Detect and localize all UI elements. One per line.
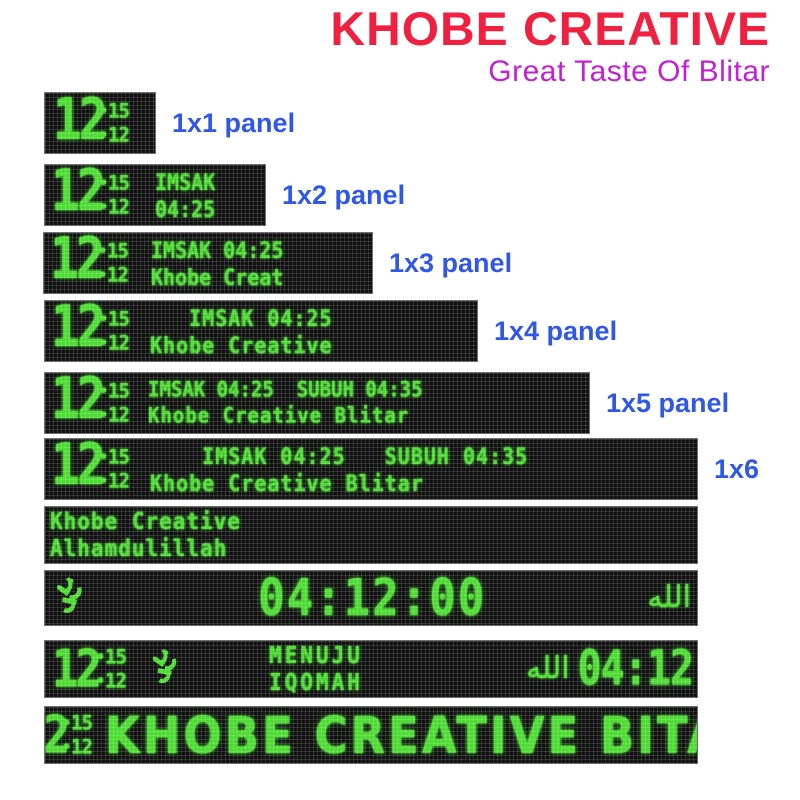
date-small-top: 15 <box>108 447 129 467</box>
brand-tagline: Great Taste Of Blitar <box>250 55 770 88</box>
clock-time: 04:12:00 <box>258 570 486 626</box>
panel-line2: Khobe Creative Blitar <box>150 471 694 493</box>
date-small-bottom: 12 <box>71 737 92 757</box>
date-small-bottom: 12 <box>108 197 129 217</box>
text-panel-line1: Khobe Creative <box>48 510 694 534</box>
date-big-digit: 12 <box>52 646 99 694</box>
led-panel-text[interactable]: Khobe Creative Alhamdulillah <box>44 506 698 564</box>
date-small-top: 15 <box>108 309 129 329</box>
date-small-top: 15 <box>71 713 92 733</box>
panel-line1: IMSAK 04:25 <box>150 306 474 328</box>
iqomah-time: 04:12 <box>578 641 693 696</box>
date-big-digit: 12 <box>50 233 102 285</box>
panel-row-1x6: 12 • 15 • 12 IMSAK 04:25 SUBUH 04:35 Kho… <box>44 438 759 500</box>
panel-label-1x6: 1x6 <box>714 454 759 485</box>
text-panel-line2: Alhamdulillah <box>48 537 694 561</box>
brand-title: KHOBE CREATIVE <box>240 4 770 53</box>
led-panel-1x4[interactable]: 12 • 15 • 12 IMSAK 04:25 Khobe Creative <box>44 300 478 362</box>
led-panel-iqomah[interactable]: 12 • 15 • 12 <box>44 640 698 698</box>
running-text: KHOBE CREATIVE BITA <box>105 706 698 764</box>
panel-line1: IMSAK 04:25 <box>151 238 369 260</box>
page-header: KHOBE CREATIVE Great Taste Of Blitar <box>250 4 770 88</box>
panel-label-1x3: 1x3 panel <box>389 248 512 279</box>
date-big-digit: 12 <box>51 165 103 217</box>
date-small-bottom: 12 <box>107 265 128 285</box>
date-small-bottom: 12 <box>108 405 129 425</box>
panel-row-iqomah: 12 • 15 • 12 <box>44 640 698 698</box>
panel-line1: IMSAK <box>155 170 262 192</box>
date-small-top: 15 <box>108 381 129 401</box>
panel-row-text: Khobe Creative Alhamdulillah <box>44 506 698 564</box>
led-panel-1x5[interactable]: 12 • 15 • 12 IMSAK 04:25 SUBUH 04:35 Kho… <box>44 372 590 434</box>
led-panel-1x3[interactable]: 12 • 15 • 12 IMSAK 04:25 Khobe Creat <box>43 232 373 294</box>
date-big-digit: 12 <box>44 712 67 760</box>
date-small-top: 15 <box>108 101 129 121</box>
panel-line2: 04:25 <box>155 197 262 219</box>
panel-label-1x4: 1x4 panel <box>494 316 617 347</box>
panel-line1: IMSAK 04:25 SUBUH 04:35 <box>148 379 586 400</box>
panel-line2: Khobe Creat <box>151 265 369 287</box>
led-panel-running[interactable]: 12 • 15 • 12 KHOBE CREATIVE BITA <box>44 706 698 764</box>
panel-row-clock: 04:12:00 الله <box>44 570 698 626</box>
date-small-bottom: 12 <box>105 671 126 691</box>
led-panel-clock[interactable]: 04:12:00 الله <box>44 570 698 626</box>
date-small-bottom: 12 <box>108 471 129 491</box>
led-panel-1x1[interactable]: 12 • 15 • 12 <box>44 92 156 154</box>
mosque-icon <box>51 573 97 624</box>
date-big-digit: 12 <box>51 301 103 353</box>
iqomah-line1: MENUJU <box>269 645 363 667</box>
panel-line1: IMSAK 04:25 SUBUH 04:35 <box>150 444 694 466</box>
arabic-allah-text: الله <box>526 654 570 684</box>
date-big-digit: 12 <box>53 94 105 146</box>
panel-line2: Khobe Creative <box>150 333 474 355</box>
date-big-digit: 12 <box>51 439 103 491</box>
led-panel-1x2[interactable]: 12 • 15 • 12 IMSAK 04:25 <box>44 164 266 226</box>
panel-label-1x2: 1x2 panel <box>282 180 405 211</box>
panel-label-1x5: 1x5 panel <box>606 388 729 419</box>
panel-row-1x2: 12 • 15 • 12 IMSAK 04:25 1x2 panel <box>44 164 405 226</box>
panel-row-1x1: 12 • 15 • 12 1x1 panel <box>44 92 295 154</box>
date-big-digit: 12 <box>51 373 103 425</box>
mosque-icon <box>147 644 191 695</box>
panel-row-running: 12 • 15 • 12 KHOBE CREATIVE BITA <box>44 706 698 764</box>
panel-label-1x1: 1x1 panel <box>172 108 295 139</box>
panel-row-1x4: 12 • 15 • 12 IMSAK 04:25 Khobe Creative … <box>44 300 617 362</box>
date-small-top: 15 <box>108 173 129 193</box>
led-panel-1x6[interactable]: 12 • 15 • 12 IMSAK 04:25 SUBUH 04:35 Kho… <box>44 438 698 500</box>
arabic-allah-text: الله <box>647 583 691 613</box>
date-small-top: 15 <box>105 647 126 667</box>
date-small-bottom: 12 <box>108 333 129 353</box>
date-small-bottom: 12 <box>108 125 129 145</box>
panel-line2: Khobe Creative Blitar <box>148 405 586 426</box>
iqomah-line2: IQOMAH <box>269 671 363 693</box>
panel-row-1x5: 12 • 15 • 12 IMSAK 04:25 SUBUH 04:35 Kho… <box>44 372 729 434</box>
date-small-top: 15 <box>107 241 128 261</box>
panel-row-1x3: 12 • 15 • 12 IMSAK 04:25 Khobe Creat 1x3… <box>43 232 512 294</box>
